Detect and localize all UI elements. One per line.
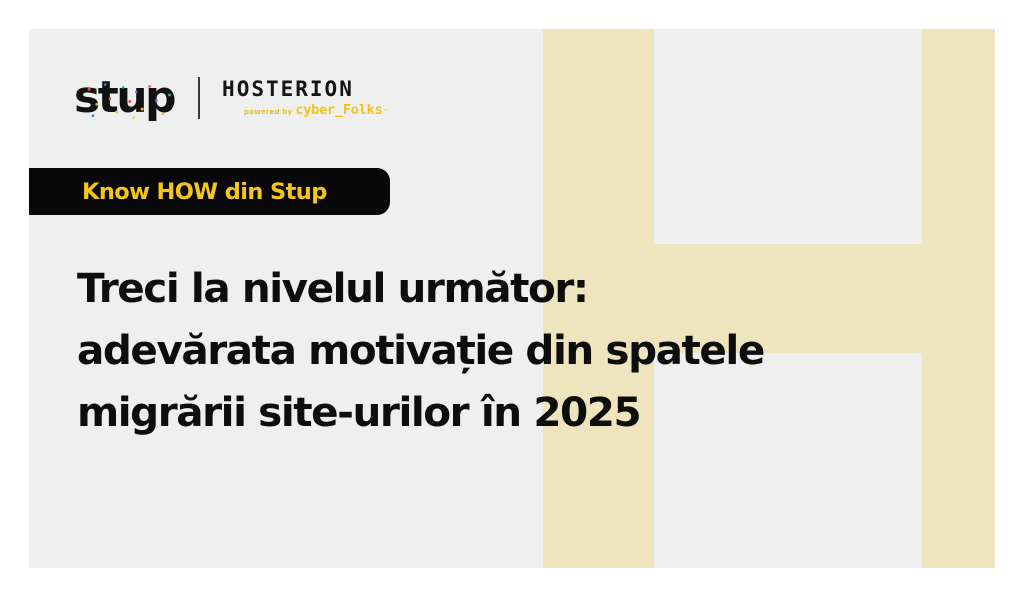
logo-divider [198,77,200,119]
trademark-symbol: ™ [383,109,390,116]
screenshot-root: stup [0,0,1023,596]
powered-by-label: powered by [244,109,292,116]
stup-logo: stup [74,76,178,120]
decorative-gray-block-top [654,29,922,244]
stup-logo-wordmark: stup [74,72,174,123]
category-badge-label: Know HOW din Stup [82,179,327,205]
category-badge[interactable]: Know HOW din Stup [29,168,390,215]
article-hero-banner: stup [29,29,995,568]
headline-line-2: adevărata motivație din spatele [77,319,977,381]
hosterion-logo: HOSTERION powered by cyber_Folks ™ [222,79,389,118]
cyber-folks-wordmark: cyber_Folks [295,104,382,118]
article-headline: Treci la nivelul următor: adevărata moti… [77,257,977,443]
hosterion-wordmark: HOSTERION [222,79,354,100]
headline-line-3: migrării site-urilor în 2025 [77,381,977,443]
headline-line-1: Treci la nivelul următor: [77,257,977,319]
logo-lockup: stup [74,67,390,129]
hosterion-sublabel: powered by cyber_Folks ™ [244,104,389,118]
